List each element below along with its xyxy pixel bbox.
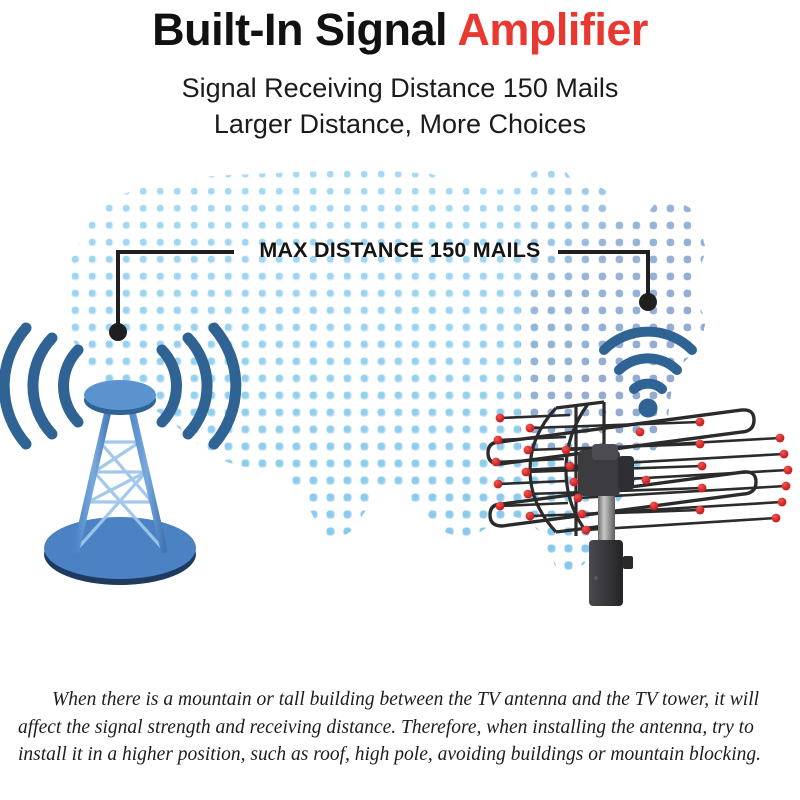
- tower-dish: [84, 380, 156, 410]
- tower-signal-arcs-left: [4, 328, 78, 444]
- footer-note: When there is a mountain or tall buildin…: [18, 686, 782, 769]
- wifi-dot: [639, 399, 658, 418]
- product-infographic: Built-In Signal Amplifier Signal Receivi…: [0, 0, 800, 800]
- subtitle-line-1: Signal Receiving Distance 150 Mails: [0, 72, 800, 104]
- illustration-area: [0, 150, 800, 670]
- leader-right-dot: [639, 293, 657, 311]
- page-title-accent: Amplifier: [457, 4, 648, 55]
- footer-text: When there is a mountain or tall buildin…: [18, 689, 761, 765]
- callout-label: MAX DISTANCE 150 MAILS: [0, 238, 800, 263]
- subtitle-line-2: Larger Distance, More Choices: [0, 108, 800, 140]
- page-title-main: Built-In Signal: [152, 4, 457, 55]
- page-title: Built-In Signal Amplifier: [0, 4, 800, 56]
- antenna-mount: [589, 540, 633, 606]
- leader-left-dot: [109, 323, 127, 341]
